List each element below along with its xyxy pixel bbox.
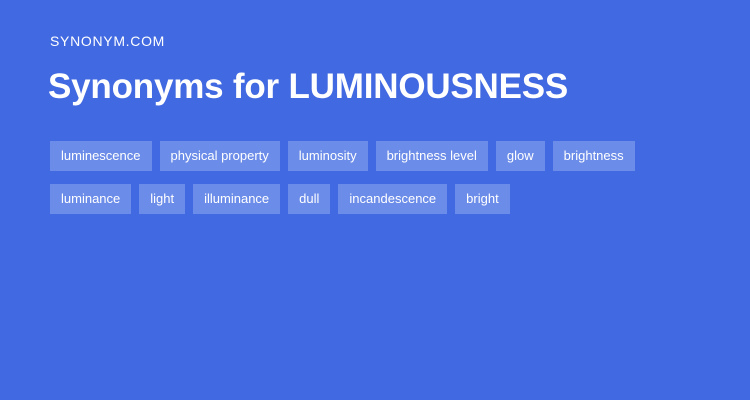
synonym-tag-list: luminescence physical property luminosit…: [50, 141, 720, 214]
synonym-tag[interactable]: luminance: [50, 184, 131, 214]
synonym-tag[interactable]: physical property: [160, 141, 280, 171]
synonym-tag[interactable]: dull: [288, 184, 330, 214]
synonym-tag[interactable]: bright: [455, 184, 510, 214]
page-title: Synonyms for LUMINOUSNESS: [48, 66, 568, 108]
site-brand[interactable]: SYNONYM.COM: [50, 33, 165, 49]
synonym-tag[interactable]: incandescence: [338, 184, 447, 214]
synonym-tag[interactable]: illuminance: [193, 184, 280, 214]
synonym-tag[interactable]: brightness level: [376, 141, 488, 171]
synonym-tag[interactable]: luminescence: [50, 141, 152, 171]
synonym-tag[interactable]: glow: [496, 141, 545, 171]
synonym-row: luminescence physical property luminosit…: [50, 141, 720, 171]
synonym-tag[interactable]: light: [139, 184, 185, 214]
synonym-tag[interactable]: luminosity: [288, 141, 368, 171]
synonyms-page: SYNONYM.COM Synonyms for LUMINOUSNESS lu…: [0, 0, 750, 400]
synonym-tag[interactable]: brightness: [553, 141, 635, 171]
synonym-row: luminance light illuminance dull incande…: [50, 184, 720, 214]
